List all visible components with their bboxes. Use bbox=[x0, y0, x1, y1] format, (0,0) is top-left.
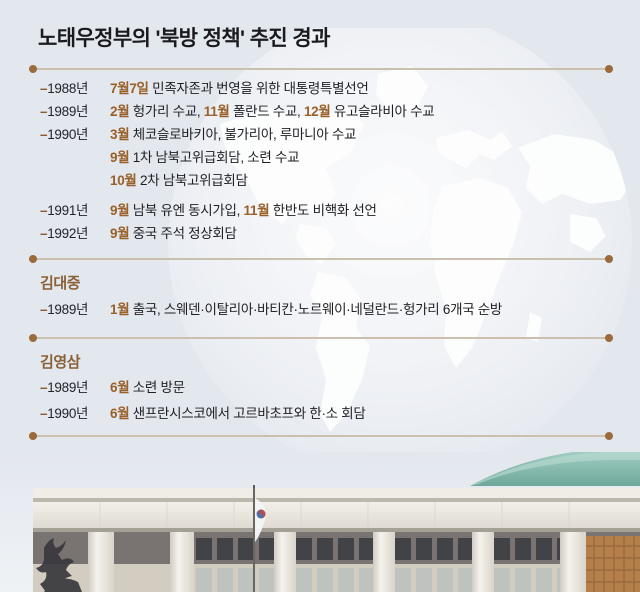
row-month: 7월7일 bbox=[110, 81, 149, 96]
national-assembly-photo bbox=[0, 452, 640, 592]
row-month-2: 11월 bbox=[204, 104, 230, 119]
row-month: 10월 bbox=[110, 173, 137, 188]
row-year: –1988년 bbox=[40, 82, 110, 96]
timeline-row: –1988년7월7일 민족자존과 번영을 위한 대통령특별선언 bbox=[40, 82, 369, 96]
year-label: 1990년 bbox=[47, 406, 88, 421]
divider-after-roh bbox=[32, 258, 610, 260]
infographic-page: 노태우정부의 '북방 정책' 추진 경과 –1988년7월7일 민족자존과 번영… bbox=[0, 0, 640, 592]
row-text: 샌프란시스코에서 고르바초프와 한·소 회담 bbox=[129, 406, 365, 421]
section-heading-kimdaejung: 김대중 bbox=[40, 272, 80, 293]
row-text-2: 한반도 비핵화 선언 bbox=[269, 203, 376, 218]
row-year: –1989년 bbox=[40, 381, 110, 395]
divider-after-kimdaejung bbox=[32, 337, 610, 339]
row-text: 체코슬로바키아, 불가리아, 루마니아 수교 bbox=[129, 127, 356, 142]
year-label: 1989년 bbox=[47, 302, 88, 317]
row-month: 6월 bbox=[110, 380, 129, 395]
year-label: 1989년 bbox=[47, 104, 88, 119]
row-year: –1992년 bbox=[40, 227, 110, 241]
row-year: –1989년 bbox=[40, 105, 110, 119]
divider-top bbox=[32, 68, 610, 70]
section-heading-kimyoungsam: 김영삼 bbox=[40, 351, 80, 372]
timeline-row: –1990년3월 체코슬로바키아, 불가리아, 루마니아 수교 bbox=[40, 128, 356, 142]
timeline-row: –1989년6월 소련 방문 bbox=[40, 381, 185, 395]
row-text: 헝가리 수교, bbox=[129, 104, 203, 119]
row-month: 9월 bbox=[110, 150, 129, 165]
row-month: 1월 bbox=[110, 302, 129, 317]
world-map-watermark bbox=[150, 28, 640, 498]
row-text: 민족자존과 번영을 위한 대통령특별선언 bbox=[149, 81, 369, 96]
row-text-2: 폴란드 수교, bbox=[230, 104, 304, 119]
row-month: 9월 bbox=[110, 203, 129, 218]
row-text: 출국, 스웨덴·이탈리아·바티칸·노르웨이·네덜란드·헝가리 6개국 순방 bbox=[129, 302, 502, 317]
timeline-row: –1989년1월 출국, 스웨덴·이탈리아·바티칸·노르웨이·네덜란드·헝가리 … bbox=[40, 303, 502, 317]
divider-bottom bbox=[32, 435, 610, 437]
timeline-row: –1989년2월 헝가리 수교, 11월 폴란드 수교, 12월 유고슬라비아 … bbox=[40, 105, 434, 119]
row-month-2: 11월 bbox=[244, 203, 270, 218]
row-text: 2차 남북고위급회담 bbox=[137, 173, 248, 188]
year-label: 1990년 bbox=[47, 127, 88, 142]
row-year: –1990년 bbox=[40, 407, 110, 421]
row-text: 남북 유엔 동시가입, bbox=[129, 203, 243, 218]
row-text: 중국 주석 정상회담 bbox=[129, 226, 236, 241]
timeline-row: –1990년6월 샌프란시스코에서 고르바초프와 한·소 회담 bbox=[40, 407, 366, 421]
year-label: 1988년 bbox=[47, 81, 88, 96]
row-month: 6월 bbox=[110, 406, 129, 421]
year-label: 1989년 bbox=[47, 380, 88, 395]
row-year: –1990년 bbox=[40, 128, 110, 142]
row-month: 2월 bbox=[110, 104, 129, 119]
row-month: 9월 bbox=[110, 226, 129, 241]
year-label: 1991년 bbox=[47, 203, 88, 218]
row-text: 소련 방문 bbox=[129, 380, 184, 395]
row-month: 3월 bbox=[110, 127, 129, 142]
timeline-row: –1991년9월 남북 유엔 동시가입, 11월 한반도 비핵화 선언 bbox=[40, 204, 377, 218]
timeline-row: 10월 2차 남북고위급회담 bbox=[40, 174, 248, 188]
row-month-3: 12월 bbox=[304, 104, 331, 119]
row-text: 1차 남북고위급회담, 소련 수교 bbox=[129, 150, 299, 165]
timeline-row: 9월 1차 남북고위급회담, 소련 수교 bbox=[40, 151, 299, 165]
row-year: –1989년 bbox=[40, 303, 110, 317]
row-year: –1991년 bbox=[40, 204, 110, 218]
year-label: 1992년 bbox=[47, 226, 88, 241]
page-title: 노태우정부의 '북방 정책' 추진 경과 bbox=[38, 22, 330, 52]
timeline-row: –1992년9월 중국 주석 정상회담 bbox=[40, 227, 237, 241]
row-text-3: 유고슬라비아 수교 bbox=[330, 104, 434, 119]
